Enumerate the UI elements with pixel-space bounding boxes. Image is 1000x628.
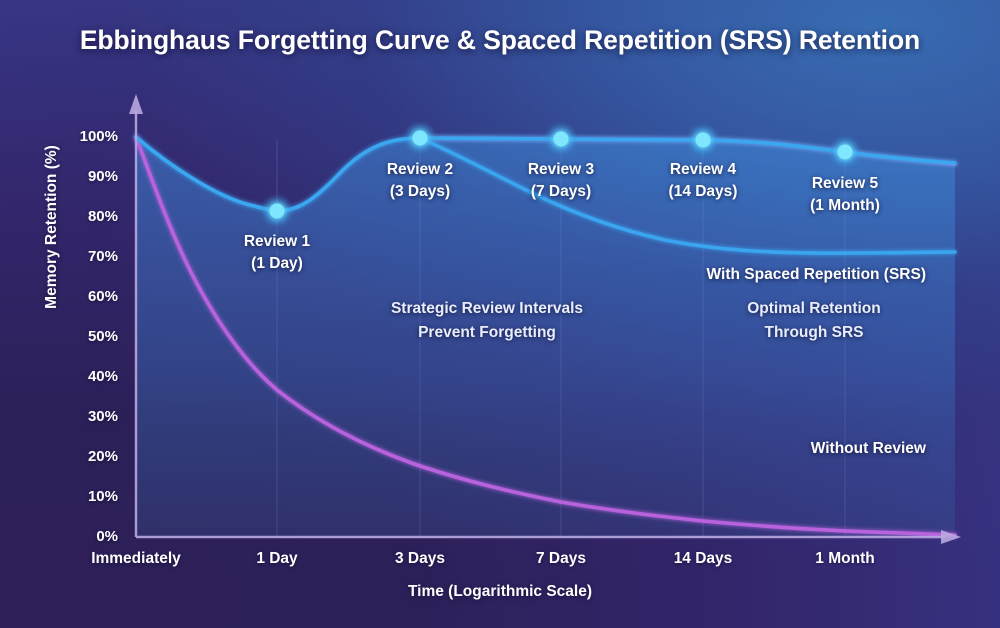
y-tick-30: 30%: [54, 408, 118, 425]
chart-canvas: Ebbinghaus Forgetting Curve & Spaced Rep…: [0, 0, 1000, 628]
review-5-label: Review 5 (1 Month): [745, 173, 945, 217]
review-marker-2[interactable]: [403, 121, 437, 155]
y-tick-40: 40%: [54, 368, 118, 385]
x-axis-title: Time (Logarithmic Scale): [0, 583, 1000, 601]
annotation-1-line-2: Prevent Forgetting: [337, 321, 637, 345]
y-tick-60: 60%: [54, 288, 118, 305]
y-tick-0: 0%: [54, 528, 118, 545]
series-label-srs: With Spaced Repetition (SRS): [707, 266, 926, 284]
annotation-1-line-1: Strategic Review Intervals: [337, 297, 637, 321]
y-tick-20: 20%: [54, 448, 118, 465]
annotation-optimal-retention: Optimal Retention Through SRS: [664, 297, 964, 344]
annotation-2-line-2: Through SRS: [664, 321, 964, 345]
y-tick-100: 100%: [54, 128, 118, 145]
review-marker-4[interactable]: [686, 123, 720, 157]
review-1-name: Review 1: [177, 231, 377, 253]
series-label-without-review: Without Review: [811, 440, 926, 458]
y-tick-90: 90%: [54, 168, 118, 185]
y-tick-10: 10%: [54, 488, 118, 505]
review-1-interval: (1 Day): [177, 253, 377, 275]
annotation-strategic-review: Strategic Review Intervals Prevent Forge…: [337, 297, 637, 344]
review-marker-5[interactable]: [828, 135, 862, 169]
x-tick-1-month: 1 Month: [755, 550, 935, 568]
y-tick-80: 80%: [54, 208, 118, 225]
review-5-name: Review 5: [745, 173, 945, 195]
review-5-interval: (1 Month): [745, 195, 945, 217]
review-marker-1[interactable]: [260, 194, 294, 228]
annotation-2-line-1: Optimal Retention: [664, 297, 964, 321]
y-tick-50: 50%: [54, 328, 118, 345]
review-marker-3[interactable]: [544, 122, 578, 156]
review-1-label: Review 1 (1 Day): [177, 231, 377, 275]
y-tick-70: 70%: [54, 248, 118, 265]
